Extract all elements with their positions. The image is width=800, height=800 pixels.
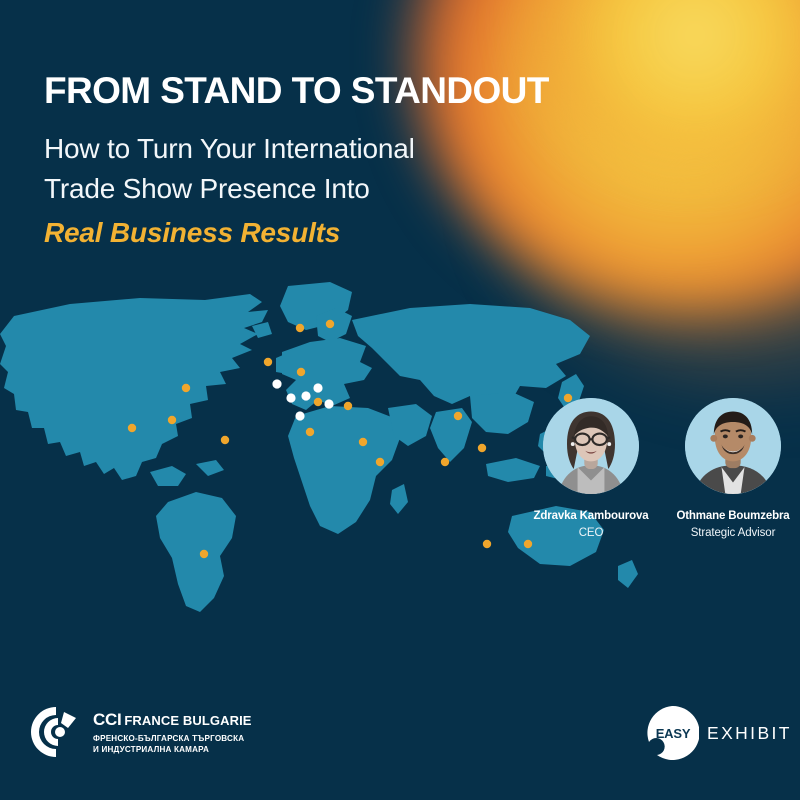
cci-country: FRANCE BULGARIE — [124, 713, 251, 728]
cci-abbrev: CCI — [93, 710, 121, 729]
cci-emblem-icon — [30, 706, 82, 758]
easy-badge-word: EASY — [645, 706, 699, 760]
easy-badge-icon: EASY — [645, 706, 699, 760]
avatar — [685, 398, 781, 494]
subtitle-line-2: Trade Show Presence Into — [44, 169, 604, 209]
speaker-name: Zdravka Kambourova — [528, 509, 654, 523]
speaker-list: Zdravka Kambourova CEO — [528, 398, 796, 541]
headline-block: FROM STAND TO STANDOUT How to Turn Your … — [44, 72, 604, 253]
promo-poster: FROM STAND TO STANDOUT How to Turn Your … — [0, 0, 800, 800]
easy-exhibit-logo: EASY EXHIBIT — [645, 706, 792, 760]
cci-logo: CCIFRANCE BULGARIE ФРЕНСКО-БЪЛГАРСКА ТЪР… — [30, 706, 252, 758]
speaker-name: Othmane Boumzebra — [670, 509, 796, 523]
avatar — [543, 398, 639, 494]
cci-cyrillic-line-2: И ИНДУСТРИАЛНА КАМАРА — [93, 744, 252, 755]
cci-cyrillic-line-1: ФРЕНСКО-БЪЛГАРСКА ТЪРГОВСКА — [93, 733, 252, 744]
cci-wordmark: CCIFRANCE BULGARIE ФРЕНСКО-БЪЛГАРСКА ТЪР… — [93, 709, 252, 756]
speaker-role: CEO — [528, 526, 654, 540]
speaker-card: Othmane Boumzebra Strategic Advisor — [670, 398, 796, 541]
accent-tagline: Real Business Results — [44, 209, 604, 253]
cci-title-line: CCIFRANCE BULGARIE — [93, 711, 252, 729]
page-title: FROM STAND TO STANDOUT — [44, 72, 604, 111]
speaker-role: Strategic Advisor — [670, 526, 796, 540]
subtitle-line-1: How to Turn Your International — [44, 129, 604, 169]
speaker-card: Zdravka Kambourova CEO — [528, 398, 654, 541]
easy-exhibit-word: EXHIBIT — [707, 723, 792, 744]
subtitle: How to Turn Your International Trade Sho… — [44, 111, 604, 253]
